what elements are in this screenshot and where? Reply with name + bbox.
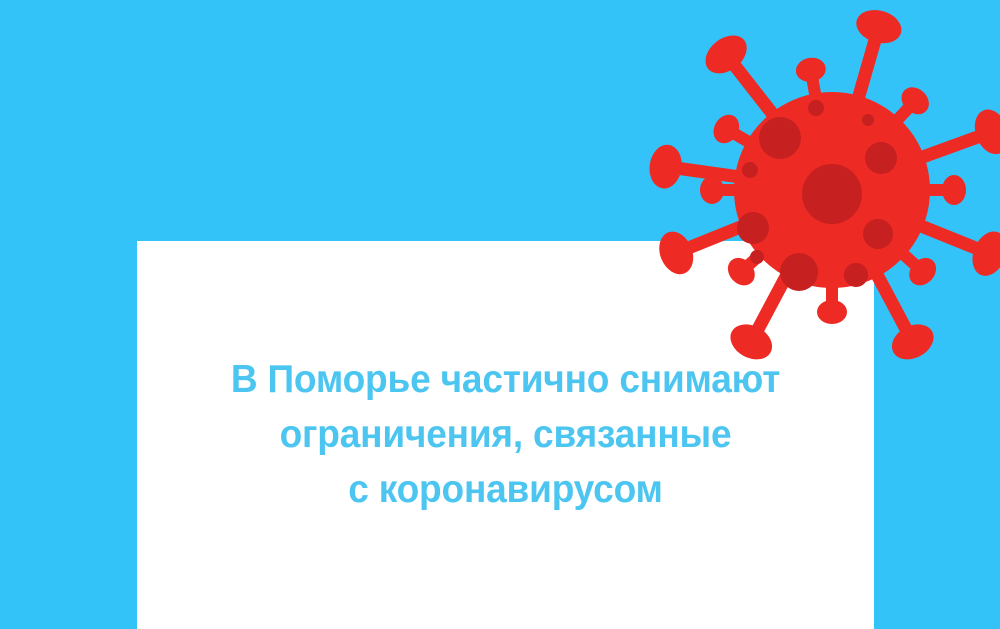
virus-spot-1	[759, 117, 801, 159]
virus-spot-8	[862, 114, 874, 126]
virus-spike-short-5	[891, 244, 941, 291]
headline-text: В Поморье частично снимают ограничения, …	[137, 352, 874, 517]
virus-spike-long-cap	[647, 143, 685, 191]
virus-spike-short-cap	[896, 82, 934, 120]
virus-spike-short-stalk	[726, 129, 762, 150]
virus-spike-long-6	[870, 261, 940, 367]
virus-spot-9	[742, 162, 758, 178]
virus-spike-long-stalk	[870, 261, 913, 342]
virus-spot-0	[802, 164, 862, 224]
virus-spike-long-cap	[966, 226, 1000, 281]
headline-line-1: В Поморье частично снимают	[155, 352, 855, 407]
virus-spot-2	[865, 142, 897, 174]
virus-spike-long-cap	[698, 28, 754, 82]
virus-spike-long-stalk	[906, 220, 989, 254]
virus-spike-short-stalk	[811, 70, 818, 111]
virus-spike-long-3	[907, 105, 1000, 163]
virus-spike-short-stalk	[887, 101, 916, 132]
virus-spike-short-cap	[708, 110, 744, 148]
virus-spike-short-1	[708, 110, 762, 150]
virus-spike-short-cap	[794, 55, 828, 84]
virus-spike-short-cap	[942, 175, 966, 205]
virus-spike-long-stalk	[854, 27, 879, 114]
virus-spike-long-2	[647, 143, 753, 191]
virus-spot-3	[737, 212, 769, 244]
virus-spike-long-cap	[886, 317, 940, 366]
virus-spike-short-3	[912, 175, 966, 205]
virus-spike-short-stalk	[891, 244, 922, 272]
headline-line-2: ограничения, связанные	[155, 407, 855, 462]
virus-spike-short-cap	[700, 176, 724, 204]
virus-spike-long-stalk	[726, 54, 783, 127]
virus-spike-short-0	[794, 55, 828, 111]
virus-spike-short-2	[887, 82, 935, 132]
virus-spike-short-cap	[904, 252, 942, 290]
virus-spike-long-cap	[852, 5, 905, 48]
virus-spot-7	[808, 100, 824, 116]
virus-spike-long-stalk	[666, 167, 753, 179]
virus-spike-long-4	[906, 220, 1000, 281]
headline-line-3: с коронавирусом	[155, 462, 855, 517]
virus-spike-long-stalk	[907, 132, 992, 163]
virus-spike-long-0	[698, 28, 783, 127]
poster-canvas: В Поморье частично снимают ограничения, …	[0, 0, 1000, 629]
virus-spike-long-1	[852, 5, 905, 113]
virus-spike-short-7	[700, 176, 752, 204]
virus-spike-long-cap	[969, 105, 1000, 159]
